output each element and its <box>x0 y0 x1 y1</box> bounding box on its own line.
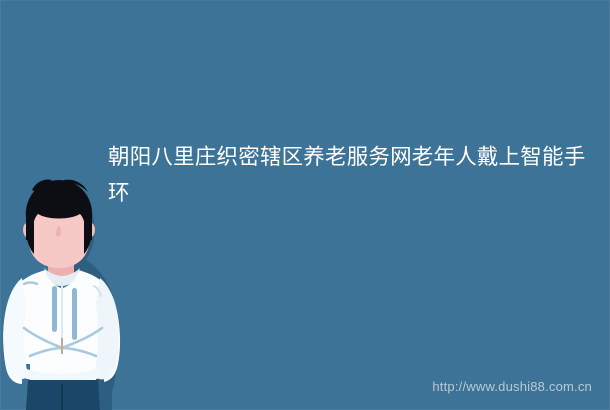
article-cover-poster: 朝阳八里庄织密辖区养老服务网老年人戴上智能手环 http://www.dushi… <box>0 0 610 410</box>
sideburn-left <box>26 222 34 254</box>
drawstring-left <box>52 286 57 332</box>
page-title: 朝阳八里庄织密辖区养老服务网老年人戴上智能手环 <box>108 139 600 211</box>
person-illustration-svg <box>0 178 132 410</box>
person-illustration <box>0 178 132 410</box>
source-url-watermark: http://www.dushi88.com.cn <box>0 378 592 395</box>
drawstring-right <box>72 288 77 340</box>
